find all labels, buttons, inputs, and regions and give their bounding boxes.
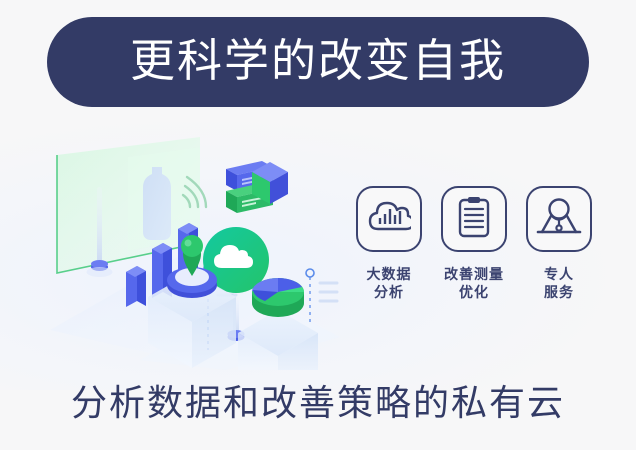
feature-list: 大数据 分析 改善测量 优化 (352, 186, 596, 301)
page-title: 更科学的改变自我 (130, 38, 506, 86)
feature-item-measurement[interactable]: 改善测量 优化 (437, 186, 511, 301)
header-banner: 更科学的改变自我 (47, 17, 589, 107)
feature-label: 改善测量 优化 (444, 265, 504, 301)
poster-canvas: 更科学的改变自我 (0, 0, 636, 450)
clipboard-lines-icon (455, 195, 493, 244)
pie-chart-3d (252, 278, 304, 317)
bottle-silhouette (143, 167, 171, 240)
service-agent-icon (536, 196, 582, 243)
feature-label: 大数据 分析 (367, 265, 412, 301)
feature-badge (526, 186, 592, 252)
feature-badge (356, 186, 422, 252)
feature-item-big-data[interactable]: 大数据 分析 (352, 186, 426, 301)
feature-item-service[interactable]: 专人 服务 (522, 186, 596, 301)
feature-badge (441, 186, 507, 252)
dashed-connector-line-right (306, 269, 337, 325)
feature-label: 专人 服务 (544, 265, 574, 301)
cloud-bar-chart-icon (367, 197, 411, 242)
tagline-text: 分析数据和改善策略的私有云 (0, 385, 636, 421)
isometric-illustration (40, 125, 360, 370)
